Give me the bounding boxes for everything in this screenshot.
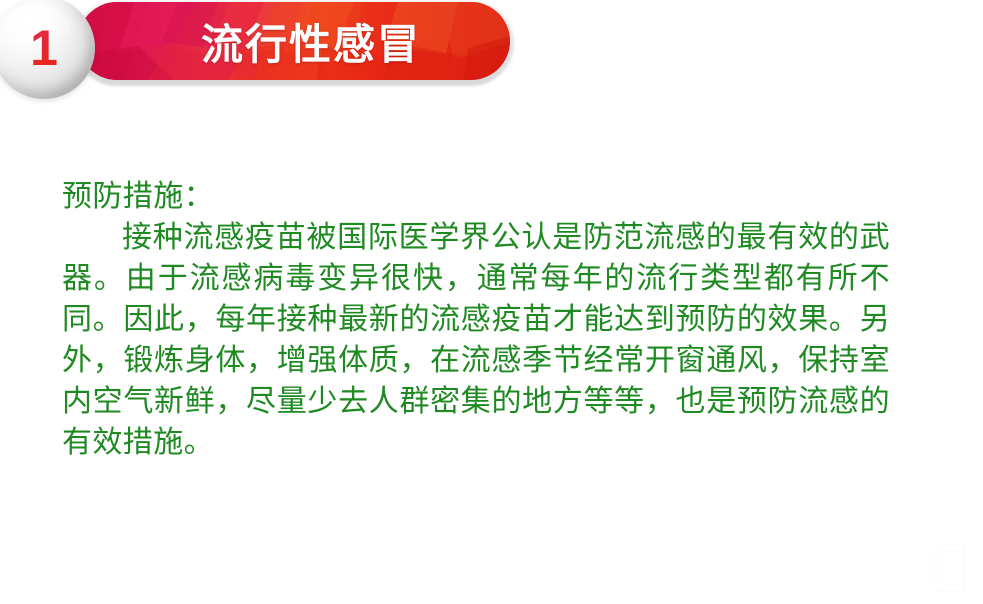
- content-body: 预防措施： 接种流感疫苗被国际医学界公认是防范流感的最有效的武器。由于流感病毒变…: [62, 176, 890, 463]
- content-heading: 预防措施：: [62, 176, 890, 217]
- phone-icon: [935, 544, 965, 592]
- badge-sphere: 1: [0, 0, 95, 99]
- slide-canvas: 流行性感冒 1 预防措施： 接种流感疫苗被国际医学界公认是防范流感的最有效的武器…: [0, 0, 983, 604]
- banner-pill: 流行性感冒: [78, 2, 510, 80]
- banner-title: 流行性感冒: [78, 2, 510, 80]
- section-number-badge: 1: [0, 0, 98, 102]
- section-banner: 流行性感冒: [78, 2, 510, 82]
- badge-number: 1: [0, 0, 95, 99]
- content-paragraph: 接种流感疫苗被国际医学界公认是防范流感的最有效的武器。由于流感病毒变异很快，通常…: [62, 217, 890, 463]
